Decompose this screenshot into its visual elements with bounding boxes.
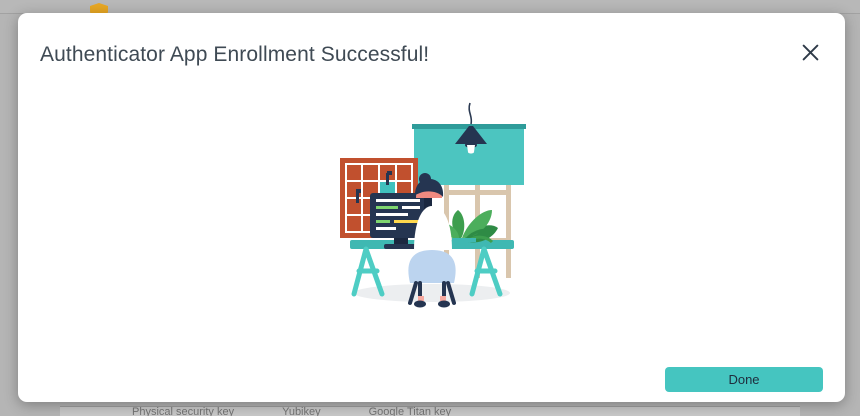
person-working-at-desk-illustration <box>332 98 532 313</box>
bg-cell-google-titan: Google Titan key <box>369 407 452 416</box>
close-button[interactable] <box>793 35 827 69</box>
enrollment-success-dialog: Authenticator App Enrollment Successful! <box>18 13 845 402</box>
dialog-footer: Done <box>18 342 845 402</box>
bg-cell-yubikey: Yubikey <box>282 407 321 416</box>
background-table-row: Physical security key Yubikey Google Tit… <box>0 404 860 416</box>
done-button[interactable]: Done <box>665 367 823 392</box>
dialog-title: Authenticator App Enrollment Successful! <box>40 43 429 67</box>
illustration-container <box>18 83 845 328</box>
bg-cell-physical-key: Physical security key <box>132 407 234 416</box>
close-icon <box>802 44 819 61</box>
background-toolbar <box>0 0 860 14</box>
